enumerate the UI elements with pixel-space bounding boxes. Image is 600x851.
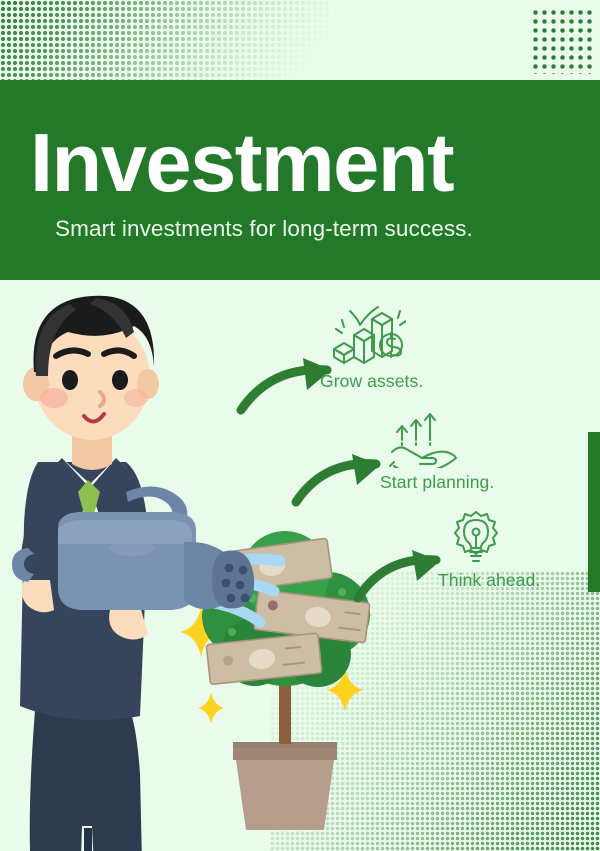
bar-chart-dollar-check-icon [326,305,406,367]
benefit-item-grow-assets[interactable]: Grow assets. [320,305,520,400]
header-band: Investment Smart investments for long-te… [0,80,600,280]
benefit-item-think-ahead[interactable]: Think ahead. [438,508,600,603]
benefit-label-start-planning: Start planning. [380,472,494,493]
lightbulb-gear-icon [444,508,508,570]
benefit-label-grow-assets: Grow assets. [320,371,423,392]
page-subtitle: Smart investments for long-term success. [55,216,600,242]
dot-grid-top-right-icon [531,8,593,74]
tree-trunk-icon [279,678,291,744]
flower-pot-icon [233,742,337,830]
hand-rising-arrows-icon [386,410,464,468]
arrow-to-think-ahead-icon [352,548,452,606]
halftone-top-left-icon [0,0,330,82]
benefit-label-think-ahead: Think ahead. [438,570,540,591]
page-title: Investment [30,118,600,203]
poster-canvas: Investment Smart investments for long-te… [0,0,600,851]
arrow-to-start-planning-icon [290,452,392,510]
benefit-item-start-planning[interactable]: Start planning. [380,410,580,505]
